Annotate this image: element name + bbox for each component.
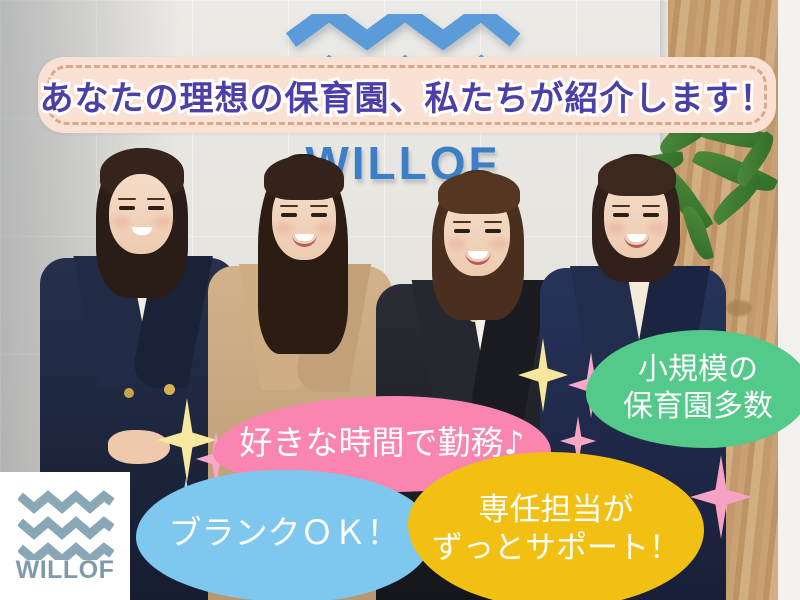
headline-text: あなたの理想の保育園、私たちが紹介します！: [38, 57, 776, 133]
bubble-green-text: 小規模の 保育園多数: [586, 330, 800, 448]
bubble-yellow-dedicated-support: 専任担当が ずっとサポート！: [408, 452, 704, 600]
bubble-green-line-1: 小規模の: [638, 352, 758, 389]
headline-banner: あなたの理想の保育園、私たちが紹介します！: [38, 57, 776, 133]
willof-wordmark: WILLOF: [0, 556, 130, 585]
willof-logo-card: WILLOF: [0, 472, 130, 600]
bubble-yellow-line-2: ずっとサポート！: [432, 530, 680, 568]
poster-canvas: WILLOF: [0, 0, 800, 600]
person-1-hands: [108, 430, 170, 464]
bubble-yellow-line-1: 専任担当が: [479, 492, 634, 530]
bubble-yellow-text: 専任担当が ずっとサポート！: [408, 452, 704, 600]
willof-zigzag-icon: [18, 486, 114, 560]
bubble-green-small-nurseries: 小規模の 保育園多数: [586, 330, 800, 448]
bubble-blue-blank-ok: ブランクＯＫ！: [136, 470, 432, 600]
bubble-blue-text: ブランクＯＫ！: [136, 470, 432, 600]
bubble-green-line-2: 保育園多数: [623, 389, 773, 426]
